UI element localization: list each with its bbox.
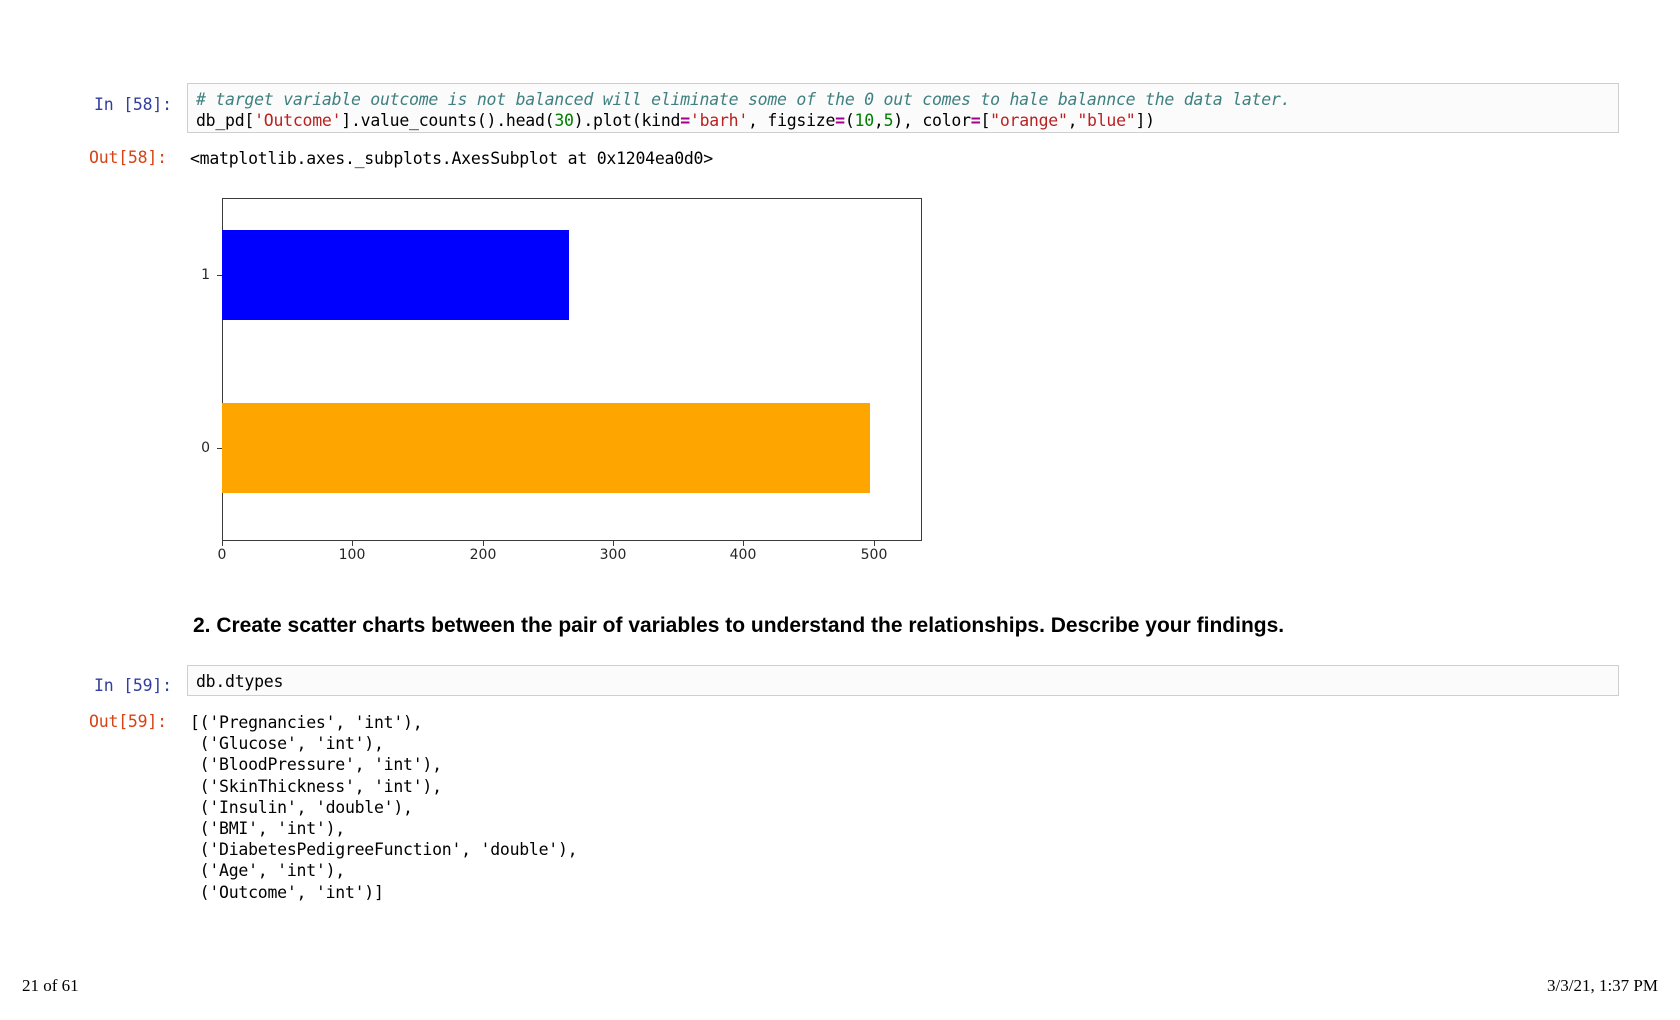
out-text-59: [('Pregnancies', 'int'), ('Glucose', 'in… [190, 712, 577, 903]
xtick-label-200: 200 [461, 547, 505, 563]
xtick-mark-0 [222, 541, 223, 546]
ytick-mark-0 [217, 448, 222, 449]
out-prompt-59: Out[59]: [89, 712, 167, 731]
markdown-heading-2: 2. Create scatter charts between the pai… [193, 614, 1284, 638]
ytick-mark-1 [217, 275, 222, 276]
code-cell-input-59[interactable]: db.dtypes [187, 665, 1619, 696]
footer-timestamp: 3/3/21, 1:37 PM [1547, 976, 1658, 996]
xtick-label-0: 0 [200, 547, 244, 563]
notebook-page: action In [58]: # target variable outcom… [0, 0, 1680, 1020]
xtick-label-300: 300 [591, 547, 635, 563]
xtick-label-400: 400 [721, 547, 765, 563]
footer-page-number: 21 of 61 [22, 976, 79, 996]
xtick-label-100: 100 [330, 547, 374, 563]
xtick-mark-200 [483, 541, 484, 546]
horizontal-bar-chart: 1 0 0 100 200 300 400 500 [222, 198, 926, 548]
code-line-2: db_pd['Outcome'].value_counts().head(30)… [196, 111, 1155, 130]
in-prompt-58: In [58]: [94, 95, 172, 114]
xtick-mark-500 [874, 541, 875, 546]
out-prompt-58: Out[58]: [89, 148, 167, 167]
code-cell-input-58[interactable]: # target variable outcome is not balance… [187, 83, 1619, 133]
ytick-label-1: 1 [186, 267, 210, 283]
clipped-heading-top: action [193, 30, 493, 58]
bar-category-0 [222, 403, 870, 493]
xtick-mark-100 [352, 541, 353, 546]
xtick-mark-400 [743, 541, 744, 546]
code-comment: # target variable outcome is not balance… [196, 90, 1290, 109]
bar-category-1 [222, 230, 569, 320]
xtick-mark-300 [613, 541, 614, 546]
ytick-label-0: 0 [186, 440, 210, 456]
out-text-58: <matplotlib.axes._subplots.AxesSubplot a… [190, 148, 713, 169]
in-prompt-59: In [59]: [94, 676, 172, 695]
xtick-label-500: 500 [852, 547, 896, 563]
